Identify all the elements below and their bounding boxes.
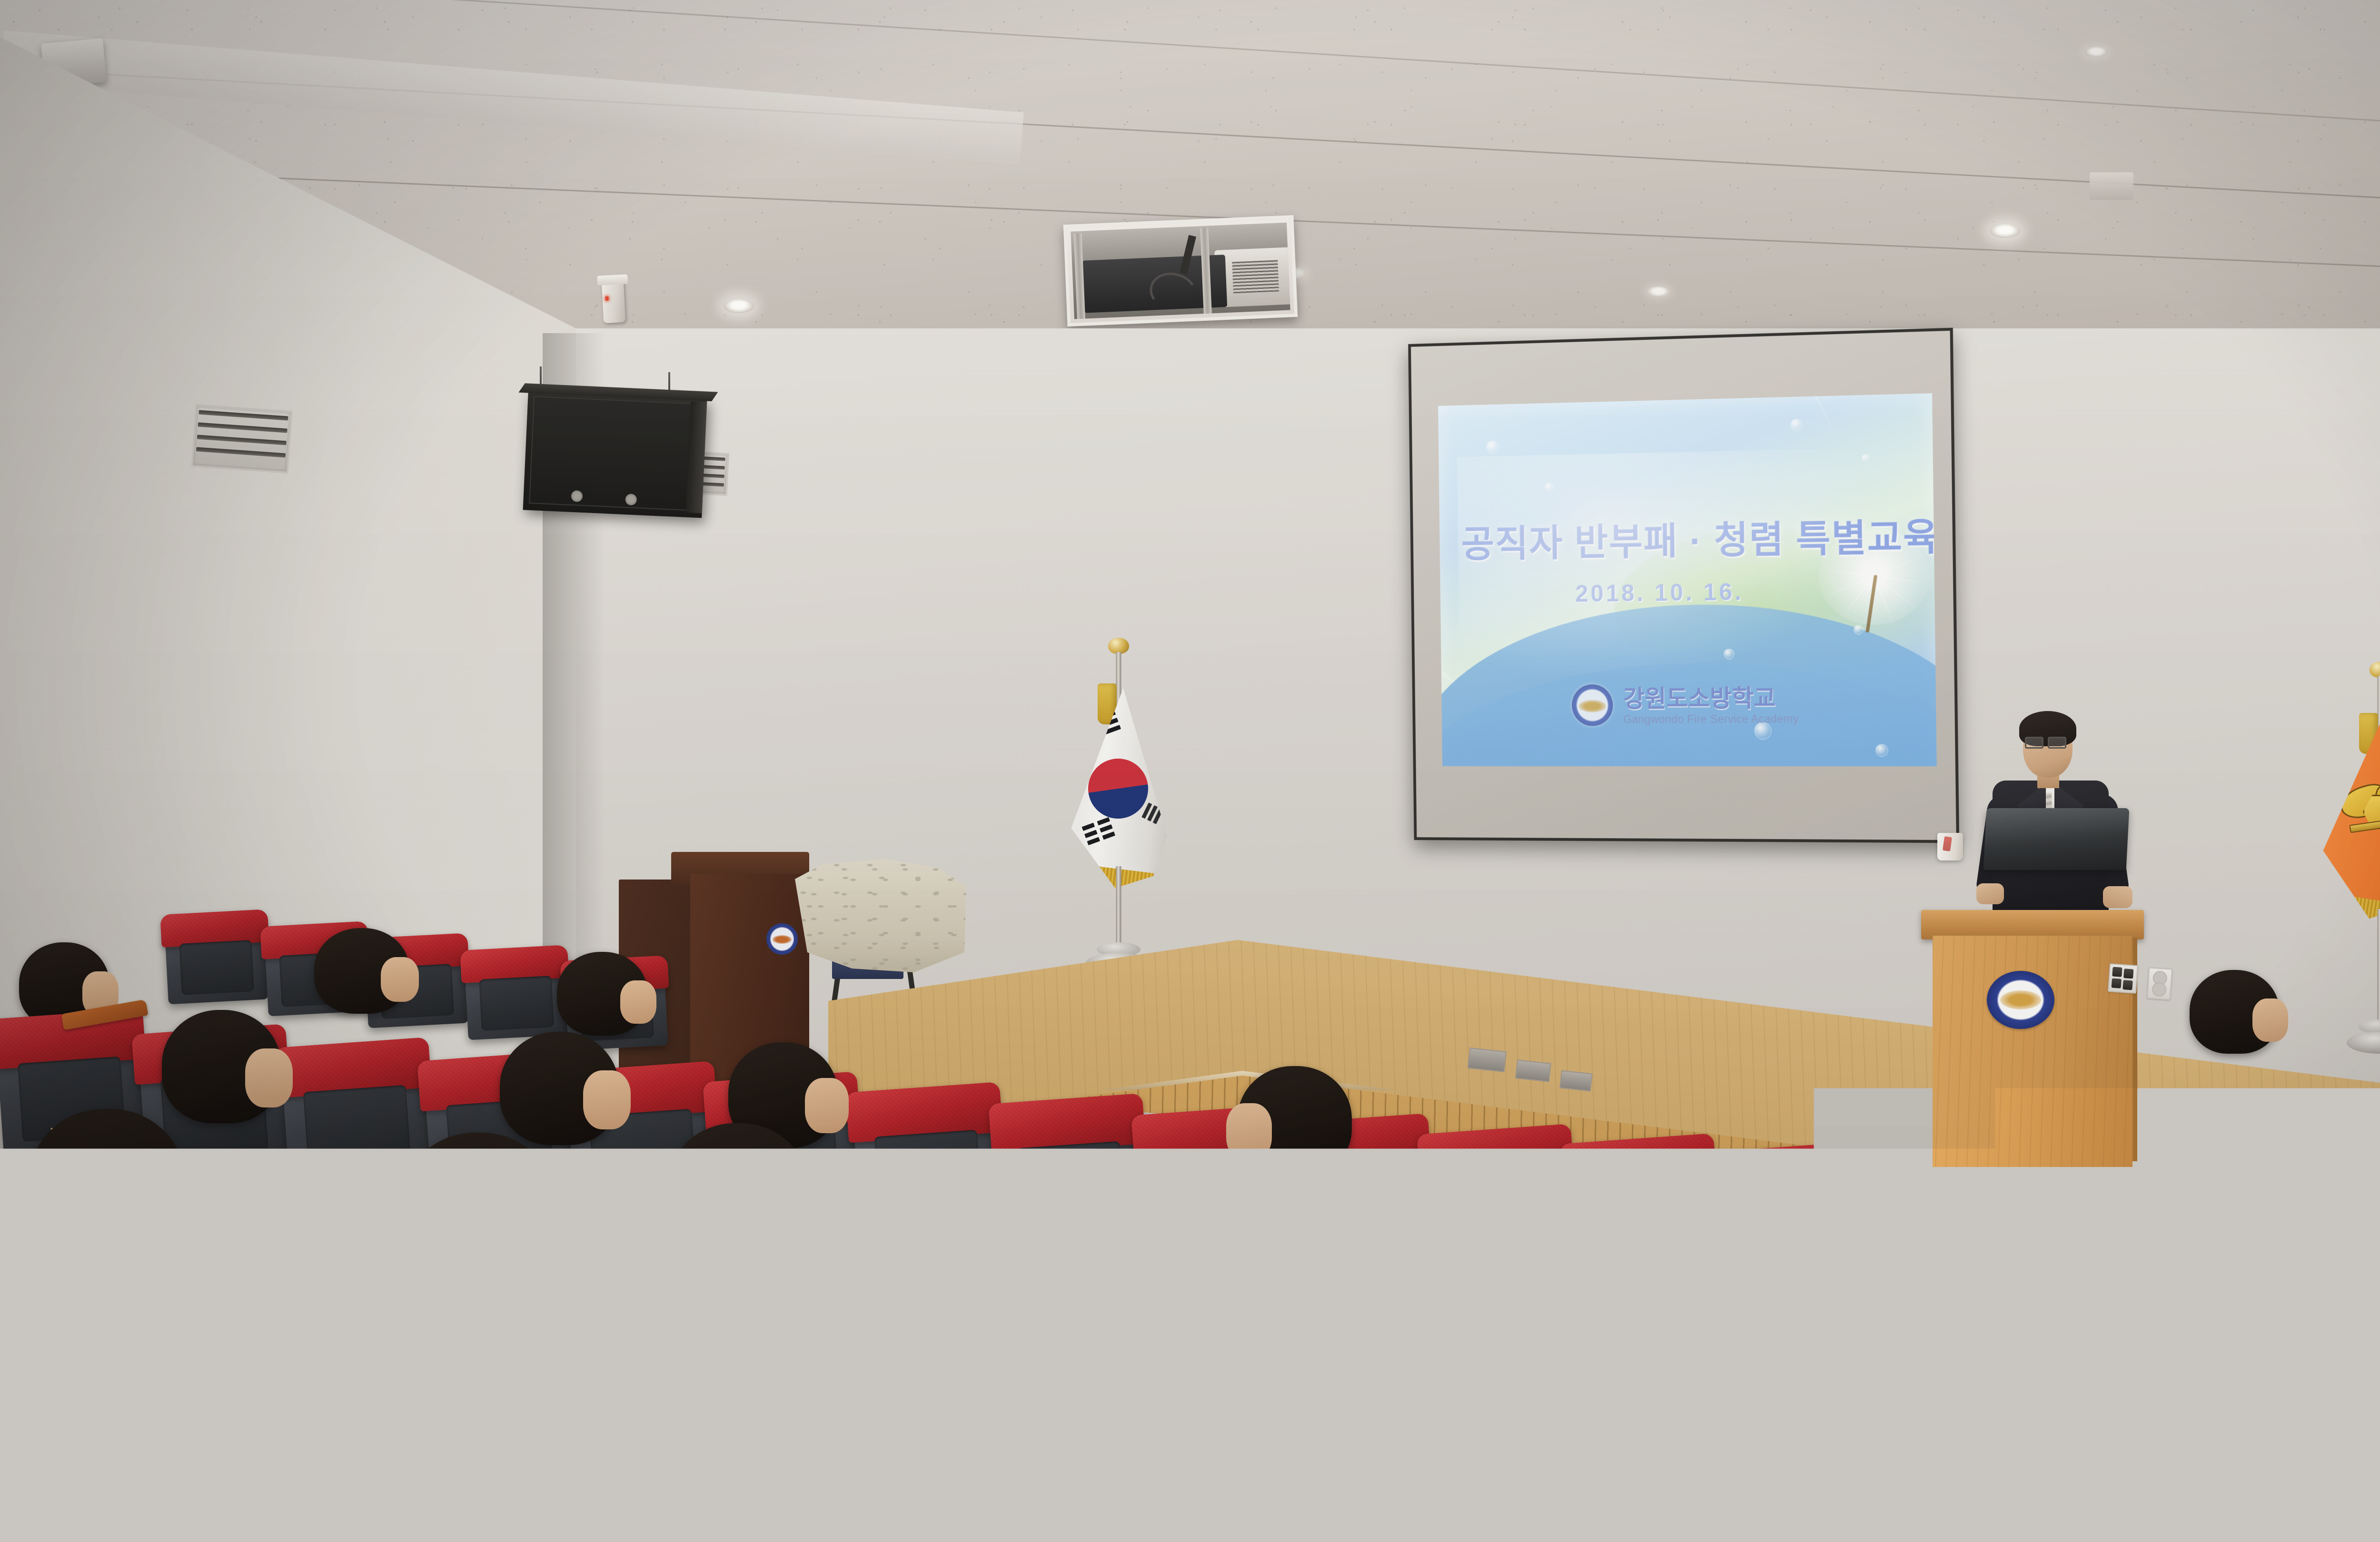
glasses-icon [2025, 737, 2065, 746]
slide-bubble [1724, 649, 1734, 659]
audience-member-head [2190, 970, 2279, 1054]
trigram-partial [1141, 802, 1163, 824]
stage-floor-vent [1559, 1070, 1593, 1092]
data-jack-plate[interactable] [2108, 963, 2138, 994]
academy-emblem-icon [1987, 971, 2054, 1029]
stage-floor-vent [1468, 1048, 1507, 1072]
chair-cover-cloth [795, 859, 966, 973]
ceiling-downlight [1990, 224, 2020, 238]
slide-footer: 강원도소방학교 Gangwondo Fire Service Academy [1572, 683, 1799, 726]
slide-bubble [1875, 744, 1888, 756]
auditorium-photo: 공직자 반부패 · 청렴 특별교육 2018. 10. 16. 강원도소방학교 … [0, 0, 2380, 1542]
academy-emblem-icon [1572, 684, 1613, 726]
fire-service-emblem-icon [2340, 781, 2380, 837]
slide-org-korean: 강원도소방학교 [1623, 685, 1799, 711]
projector-vent-icon [1232, 260, 1279, 293]
power-outlet-plate[interactable] [2147, 967, 2172, 1000]
presenter-hand-left [1976, 883, 2004, 904]
korean-flag-stand [1066, 638, 1171, 985]
academy-emblem-icon [766, 923, 798, 955]
gangwon-fire-service-flag: 강원도소방 [2321, 719, 2380, 919]
seat[interactable] [555, 1272, 768, 1445]
audience-member-head [1566, 1433, 1728, 1542]
podium-wood-grain [1933, 936, 2132, 1167]
audience-member-head [557, 952, 647, 1036]
seat[interactable]: B 32 [755, 1291, 968, 1464]
flag-fringe [2317, 891, 2380, 937]
seat[interactable] [1355, 1338, 1567, 1512]
audience-member-head [29, 1109, 186, 1261]
wall-air-vent [191, 404, 293, 474]
seat[interactable]: B 30 [155, 1224, 368, 1398]
seat[interactable]: B 17 [853, 1111, 1003, 1230]
audience-member-head [500, 1032, 619, 1145]
korean-national-flag [1067, 688, 1167, 888]
ceiling-downlight [2085, 47, 2108, 57]
projected-slide: 공직자 반부패 · 청렴 특별교육 2018. 10. 16. 강원도소방학교 … [1438, 393, 1937, 766]
seat[interactable] [1424, 1153, 1574, 1272]
seat[interactable] [465, 964, 568, 1040]
speaker-grille-icon [529, 396, 696, 511]
audience-member-head [314, 928, 409, 1014]
laptop-on-podium[interactable] [1983, 808, 2130, 870]
seat[interactable] [165, 928, 268, 1005]
ceiling-sensor [602, 279, 626, 323]
flag-pole-lower [1116, 866, 1121, 952]
ceiling-diffuser [2090, 172, 2133, 200]
flag-pole-lower [2378, 909, 2380, 1028]
projector-cavity [1071, 223, 1290, 319]
audience-member-head [162, 1010, 281, 1123]
gangwon-fire-flag-stand: 강원도소방 [2318, 662, 2380, 1076]
ceiling-downlight [1647, 287, 1670, 297]
audience-member-head [1161, 1218, 1352, 1409]
pa-speaker-left [523, 391, 707, 518]
audience-member-head [1238, 1066, 1352, 1176]
seat[interactable] [996, 1122, 1146, 1241]
slide-date: 2018. 10. 16. [1575, 578, 1744, 607]
coffee-mug[interactable] [1937, 833, 1963, 860]
slide-bubble [1862, 455, 1870, 463]
sensor-led-icon [605, 297, 608, 301]
stage-floor-vent [1515, 1059, 1551, 1082]
flag-base [2347, 1032, 2380, 1054]
slide-org-english: Gangwondo Fire Service Academy [1623, 712, 1799, 726]
audience-member-head [666, 1123, 809, 1261]
seat[interactable] [1567, 1162, 1717, 1281]
projection-screen: 공직자 반부패 · 청렴 특별교육 2018. 10. 16. 강원도소방학교 … [1408, 328, 1959, 843]
presenter-hand-right [2103, 886, 2132, 908]
ceiling-projector-mount [1063, 215, 1298, 326]
slide-title: 공직자 반부패 · 청렴 특별교육 [1461, 507, 1937, 568]
ceiling-downlight [724, 299, 754, 313]
seat[interactable] [282, 1066, 432, 1185]
audience-member-head [400, 1133, 557, 1285]
stage-air-grille [1872, 1236, 1936, 1289]
flag-finial-icon [2370, 662, 2380, 678]
flag-finial-icon [1108, 638, 1129, 654]
audience-member-head [1914, 1447, 2056, 1542]
podium-top-surface [1921, 910, 2144, 939]
cloth-pattern [795, 859, 966, 973]
podium-front-panel [1933, 936, 2132, 1167]
audience-member-head [1718, 1180, 1866, 1323]
speaking-podium [1928, 910, 2137, 1167]
seat[interactable] [955, 1310, 1168, 1483]
